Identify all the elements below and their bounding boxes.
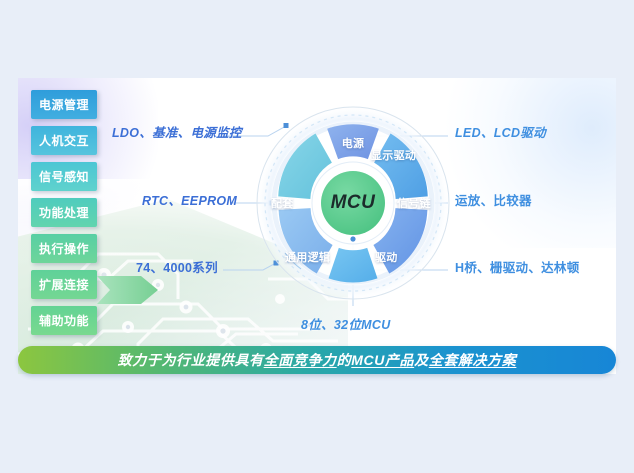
- sidebar-item-label: 功能处理: [39, 204, 89, 221]
- sidebar-item-1[interactable]: 人机交互: [31, 126, 97, 155]
- slide-canvas: 电源管理 人机交互 信号感知 功能处理 执行操作 扩展连接 辅助功能: [18, 78, 616, 374]
- slide-root: 电源管理 人机交互 信号感知 功能处理 执行操作 扩展连接 辅助功能: [0, 0, 634, 473]
- tagline-part2: 的: [337, 352, 352, 368]
- wheel-segment-driver[interactable]: 驱动: [375, 249, 398, 265]
- wheel-segment-peripheral[interactable]: 配套: [271, 195, 294, 211]
- wheel-segment-general-logic[interactable]: 通用逻辑: [285, 249, 330, 265]
- tagline-text: 致力于为行业提供具有全面竞争力的MCU产品及全套解决方案: [118, 350, 517, 370]
- sidebar-item-4[interactable]: 执行操作: [31, 234, 97, 263]
- sidebar-item-5[interactable]: 扩展连接: [31, 270, 97, 299]
- callout-rtc: RTC、EEPROM: [142, 190, 237, 209]
- callout-signal: 运放、比较器: [455, 190, 532, 209]
- callout-power: LDO、基准、电源监控: [112, 122, 242, 141]
- mcu-wheel: MCU 电源 显示驱动 信号链 驱动 通用逻辑 配套: [253, 103, 453, 303]
- callout-driver: H桥、栅驱动、达林顿: [455, 257, 580, 276]
- sidebar-item-2[interactable]: 信号感知: [31, 162, 97, 191]
- tagline-underline3: 全套解决方案: [429, 352, 517, 368]
- tagline-part3: 及: [414, 352, 429, 368]
- tagline-underline1: 全面竞争力: [264, 352, 337, 368]
- wheel-segment-signal-chain[interactable]: 信号链: [397, 195, 431, 211]
- tagline-underline2: MCU产品: [351, 352, 414, 368]
- sidebar-item-label: 扩展连接: [39, 276, 89, 293]
- sidebar-item-label: 执行操作: [39, 240, 89, 257]
- sidebar-item-label: 人机交互: [39, 132, 89, 149]
- sidebar-item-label: 辅助功能: [39, 312, 89, 329]
- tagline-banner: 致力于为行业提供具有全面竞争力的MCU产品及全套解决方案: [18, 346, 616, 374]
- process-arrow-icon: [97, 274, 159, 306]
- wheel-segment-display-driver[interactable]: 显示驱动: [371, 147, 416, 163]
- sidebar-item-label: 信号感知: [39, 168, 89, 185]
- callout-mcu-bits: 8位、32位MCU: [301, 314, 391, 333]
- sidebar-item-0[interactable]: 电源管理: [31, 90, 97, 119]
- callout-display: LED、LCD驱动: [455, 122, 546, 141]
- capability-sidebar: 电源管理 人机交互 信号感知 功能处理 执行操作 扩展连接 辅助功能: [31, 90, 97, 335]
- callout-logic: 74、4000系列: [136, 257, 218, 276]
- tagline-part1: 致力于为行业提供具有: [118, 352, 264, 368]
- sidebar-item-6[interactable]: 辅助功能: [31, 306, 97, 335]
- sidebar-item-label: 电源管理: [39, 96, 89, 113]
- sidebar-item-3[interactable]: 功能处理: [31, 198, 97, 227]
- decorative-glow-top-right: [436, 78, 616, 248]
